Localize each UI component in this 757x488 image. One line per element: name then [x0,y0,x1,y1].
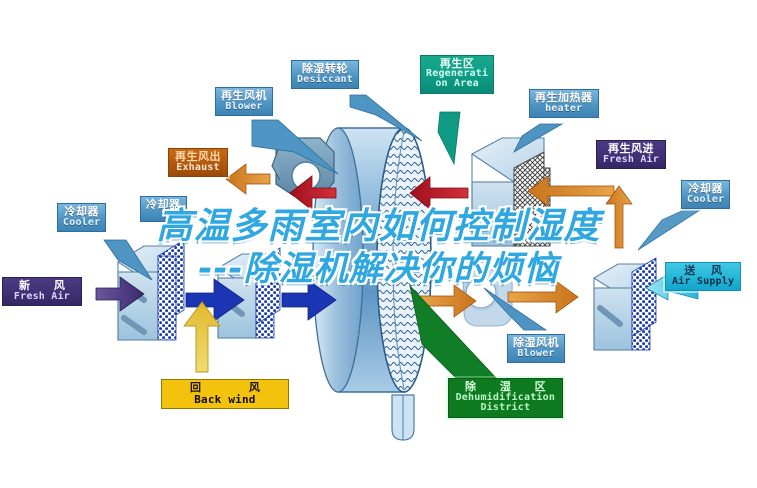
label-regeneration-heater-en: heater [535,104,593,115]
label-regeneration-blower-en: Blower [221,102,267,113]
label-cooler-right-en: Cooler [687,195,724,206]
dehumidifier-schematic-image: XTCS [0,0,757,488]
label-air-supply: 送 风 Air Supply [665,262,741,291]
label-exhaust-en: Exhaust [175,163,221,174]
label-cooler-left-2: 冷却器 [140,196,187,222]
label-regeneration-area: 再生区 Regenerati on Area [420,55,494,94]
label-dehumidification-blower-en: Blower [513,349,559,360]
label-desiccant-wheel-cn: 除湿转轮 [297,63,353,75]
label-exhaust-cn: 再生风出 [175,151,221,163]
label-regeneration-blower: 再生风机 Blower [215,87,273,116]
label-back-wind-cn: 回 风 [168,382,282,394]
label-cooler-right: 冷却器 Cooler [681,180,730,209]
label-regeneration-heater-cn: 再生加热器 [535,92,593,104]
label-cooler-right-cn: 冷却器 [687,183,724,195]
label-fresh-air-cn: 新 风 [9,280,75,292]
label-dehumidification-district-cn: 除 湿 区 [455,381,556,393]
label-desiccant-wheel: 除湿转轮 Desiccant [291,60,359,89]
label-desiccant-wheel-en: Desiccant [297,75,353,86]
label-dehumidification-district-en-line2: District [455,403,556,414]
label-cooler-left-1-cn: 冷却器 [63,206,100,218]
supply-filter-unit [594,258,656,350]
label-regeneration-fresh-air: 再生风进 Fresh Air [596,140,666,169]
label-cooler-left-2-cn: 冷却器 [146,199,181,211]
label-regeneration-heater: 再生加热器 heater [529,89,599,118]
label-regeneration-area-en-line2: on Area [426,79,488,89]
label-regeneration-blower-cn: 再生风机 [221,90,267,102]
label-dehumidification-blower: 除湿风机 Blower [507,334,565,363]
label-regeneration-fresh-air-cn: 再生风进 [603,143,659,155]
exhaust-arrow [226,164,270,194]
label-dehumidification-blower-cn: 除湿风机 [513,337,559,349]
label-cooler-left-1: 冷却器 Cooler [57,203,106,232]
label-fresh-air: 新 风 Fresh Air [2,277,82,306]
label-air-supply-cn: 送 风 [672,265,734,277]
label-dehumidification-district: 除 湿 区 Dehumidification District [448,378,563,418]
dehumidified-air-arrow-2 [508,281,578,313]
diagram-artwork: XTCS [0,0,757,488]
label-exhaust: 再生风出 Exhaust [168,148,228,177]
label-regeneration-fresh-air-en: Fresh Air [603,155,659,166]
label-back-wind-en: Back wind [168,394,282,406]
label-cooler-left-1-en: Cooler [63,218,100,229]
label-air-supply-en: Air Supply [672,277,734,288]
label-back-wind: 回 风 Back wind [161,379,289,409]
label-fresh-air-en: Fresh Air [9,292,75,303]
svg-text:XTCS: XTCS [352,326,380,339]
